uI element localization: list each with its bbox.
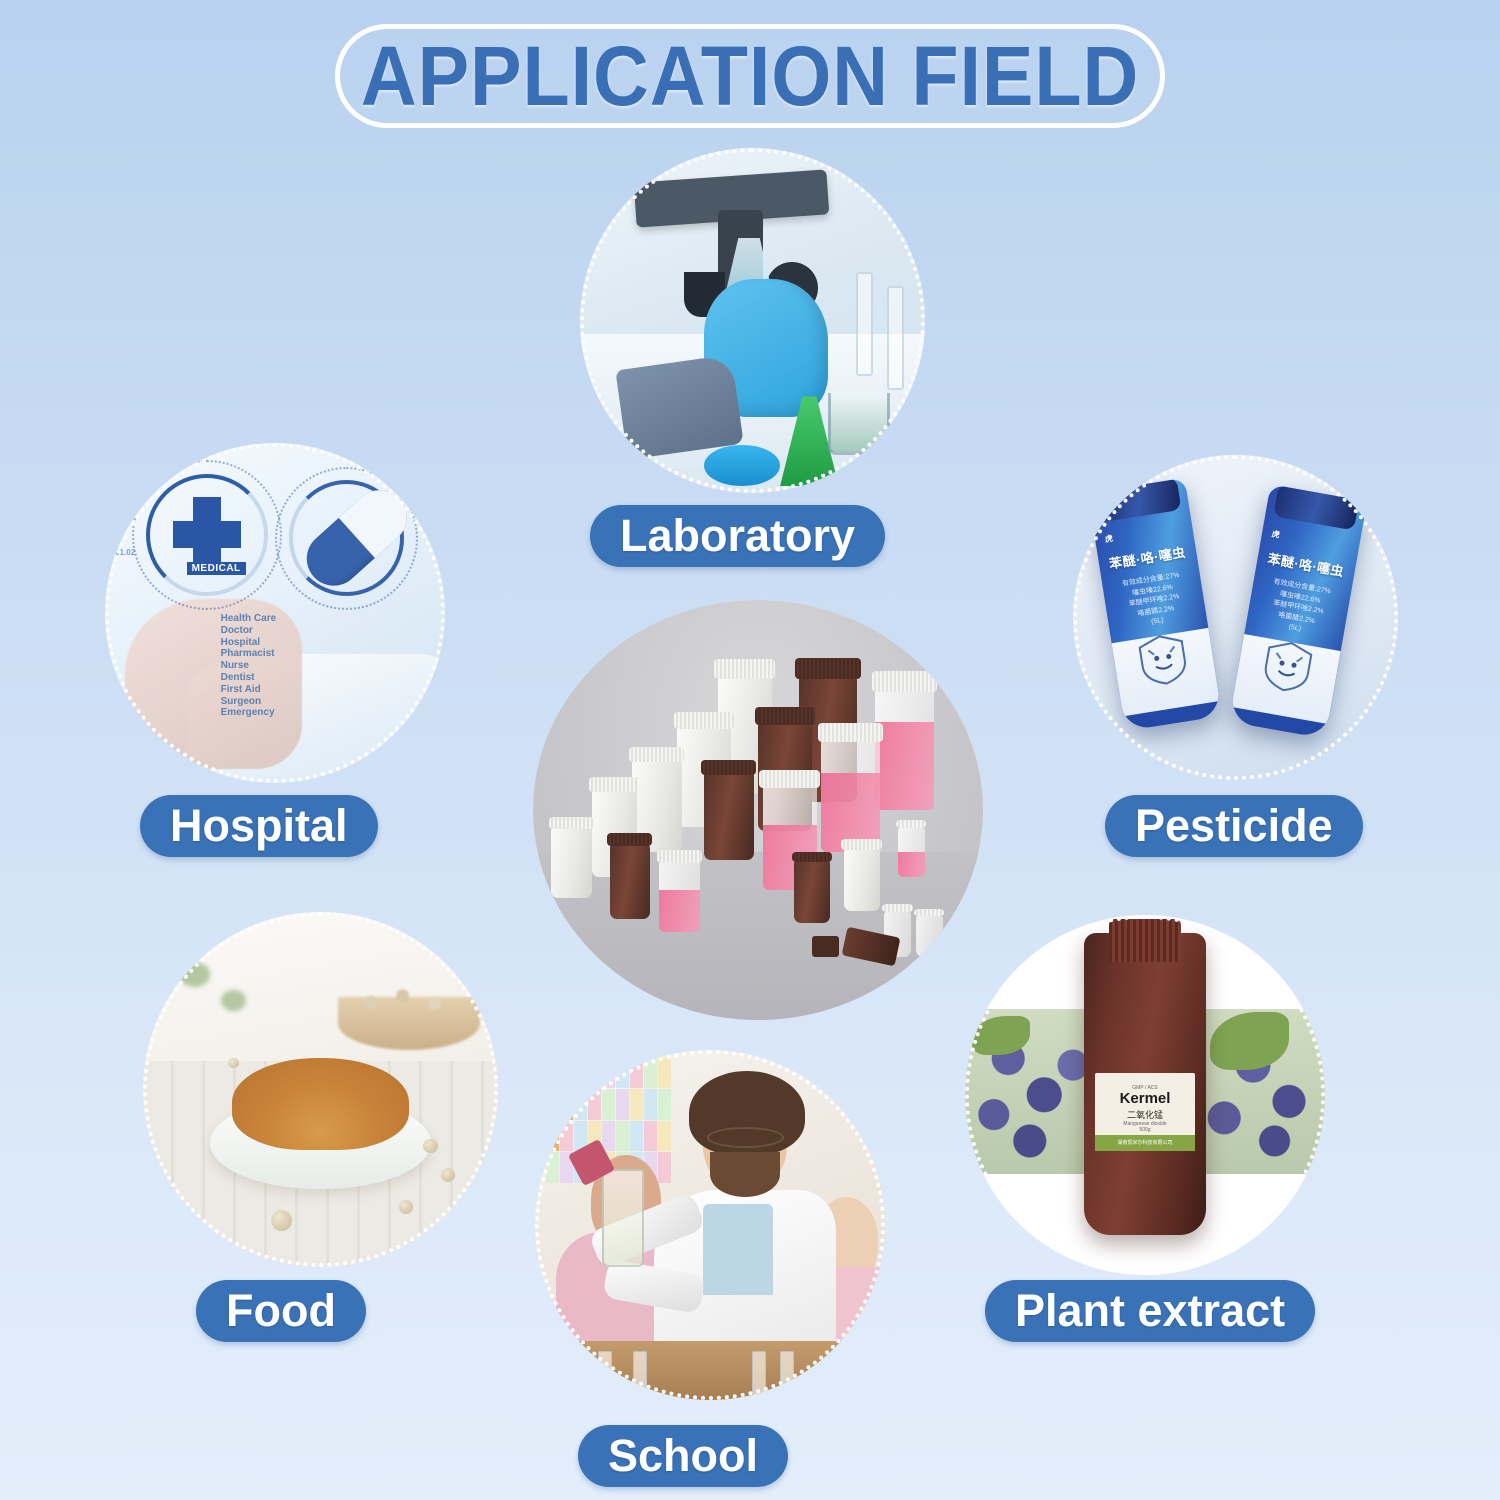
field-label-plant-extract: Plant extract	[985, 1280, 1315, 1342]
school-scene	[535, 1050, 885, 1400]
field-circle-laboratory	[580, 148, 925, 493]
hospital-scene: MEDICAL 01.02 Health Care Doctor Hospita…	[105, 443, 445, 783]
field-label-hospital: Hospital	[140, 795, 378, 857]
field-label-pesticide: Pesticide	[1105, 795, 1363, 857]
food-scene	[143, 912, 498, 1267]
field-circle-hospital: MEDICAL 01.02 Health Care Doctor Hospita…	[105, 443, 445, 783]
hologram-side-tag: 01.02	[115, 548, 135, 557]
field-label-laboratory: Laboratory	[590, 505, 885, 567]
poster: APPLICATION FIELD Laboratory	[0, 0, 1500, 1500]
petri-dish-icon	[704, 445, 780, 486]
center-product-circle	[533, 600, 983, 1020]
laboratory-scene	[580, 148, 925, 493]
label-chinese-name: 二氧化锰	[1127, 1108, 1163, 1121]
field-label-food: Food	[196, 1280, 366, 1342]
field-circle-school	[535, 1050, 885, 1400]
pesticide-brand-logo: 虎	[1104, 533, 1114, 545]
label-net-weight: 500g	[1139, 1127, 1150, 1133]
medical-caption: MEDICAL	[187, 562, 246, 575]
label-green-band: 湖南凯米尔科技有限公司	[1095, 1135, 1196, 1151]
page-title-frame: APPLICATION FIELD	[335, 24, 1165, 128]
beaker-icon	[828, 393, 890, 455]
spice-powder	[232, 1058, 410, 1150]
field-circle-food	[143, 912, 498, 1267]
beaker-icon	[602, 1169, 644, 1267]
glasses-icon	[707, 1127, 784, 1148]
bottle-cap	[1109, 919, 1181, 962]
field-circle-plant-extract: GMP / ACS Kermel 二氧化锰 Manganese dioxide …	[965, 915, 1325, 1275]
field-circle-pesticide: 虎 苯醚·咯·噻虫 有效成分含量:27% 噻虫嗪22.6% 苯醚甲环唑2.2% …	[1073, 455, 1398, 780]
page-title: APPLICATION FIELD	[361, 28, 1139, 125]
field-label-school: School	[578, 1425, 788, 1487]
plant-extract-scene: GMP / ACS Kermel 二氧化锰 Manganese dioxide …	[965, 915, 1325, 1275]
center-product-scene	[533, 600, 983, 1020]
pesticide-product-name: 苯醚·咯·噻虫	[1103, 541, 1191, 573]
pesticide-scene: 虎 苯醚·咯·噻虫 有效成分含量:27% 噻虫嗪22.6% 苯醚甲环唑2.2% …	[1073, 455, 1398, 780]
label-brand: Kermel	[1120, 1091, 1171, 1106]
loose-cap	[812, 936, 839, 957]
tiger-crest-icon	[1132, 620, 1193, 699]
hospital-keyword-list: Health Care Doctor Hospital Pharmacist N…	[221, 613, 277, 719]
